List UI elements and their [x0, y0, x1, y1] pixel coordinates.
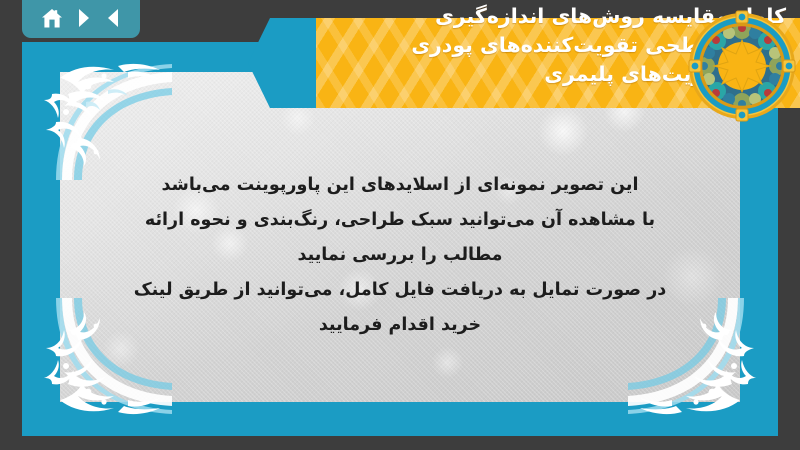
slide-viewer: این تصویر نمونه‌ای از اسلایدهای این پاور…	[0, 0, 800, 450]
left-triangle-icon	[105, 8, 121, 28]
home-button[interactable]	[41, 8, 63, 29]
persian-rosette-ornament-icon	[688, 10, 796, 122]
navigation-toolbar	[22, 0, 140, 38]
slide-canvas: این تصویر نمونه‌ای از اسلایدهای این پاور…	[60, 72, 740, 402]
right-triangle-icon	[76, 8, 92, 28]
body-line-3: در صورت تمایل به دریافت فایل کامل، می‌تو…	[120, 273, 680, 343]
body-line-2: با مشاهده آن می‌توانید سبک طراحی، رنگ‌بن…	[120, 203, 680, 273]
body-line-1: این تصویر نمونه‌ای از اسلایدهای این پاور…	[120, 168, 680, 203]
home-icon	[41, 8, 63, 29]
next-slide-button[interactable]	[76, 8, 92, 28]
slide-body-text: این تصویر نمونه‌ای از اسلایدهای این پاور…	[120, 168, 680, 343]
previous-slide-button[interactable]	[105, 8, 121, 28]
